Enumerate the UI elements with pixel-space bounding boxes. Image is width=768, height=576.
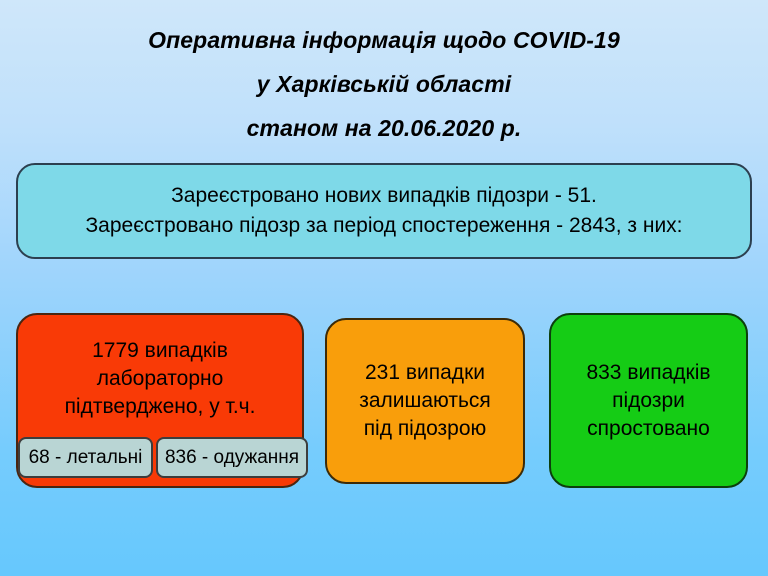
stat-box-refuted: 833 випадків підозри спростовано <box>549 313 748 488</box>
confirmed-line-2: лабораторно <box>97 365 224 393</box>
confirmed-subbox-row: 68 - летальні 836 - одужання <box>18 437 308 478</box>
slide-canvas: Оперативна інформація щодо COVID-19 у Ха… <box>0 0 768 576</box>
title-line-1: Оперативна інформація щодо COVID-19 <box>0 18 768 62</box>
title-line-3: станом на 20.06.2020 р. <box>0 106 768 150</box>
refuted-line-2: підозри <box>612 387 685 415</box>
title-line-2: у Харківській області <box>0 62 768 106</box>
summary-line-total-cases: Зареєстровано підозр за період спостереж… <box>85 211 682 241</box>
refuted-line-1: 833 випадків <box>586 359 710 387</box>
confirmed-line-1: 1779 випадків <box>92 337 228 365</box>
stat-box-pending: 231 випадки залишаються під підозрою <box>325 318 525 484</box>
sub-box-recovered: 836 - одужання <box>156 437 308 478</box>
sub-box-recovered-label: 836 - одужання <box>165 447 299 469</box>
pending-line-2: залишаються <box>359 387 491 415</box>
confirmed-line-3: підтверджено, у т.ч. <box>65 393 256 421</box>
page-title: Оперативна інформація щодо COVID-19 у Ха… <box>0 18 768 150</box>
sub-box-deaths: 68 - летальні <box>18 437 153 478</box>
summary-box: Зареєстровано нових випадків підозри - 5… <box>16 163 752 259</box>
pending-line-1: 231 випадки <box>365 359 485 387</box>
sub-box-deaths-label: 68 - летальні <box>29 447 143 469</box>
refuted-line-3: спростовано <box>587 415 710 443</box>
summary-line-new-cases: Зареєстровано нових випадків підозри - 5… <box>171 181 597 211</box>
pending-line-3: під підозрою <box>364 415 487 443</box>
